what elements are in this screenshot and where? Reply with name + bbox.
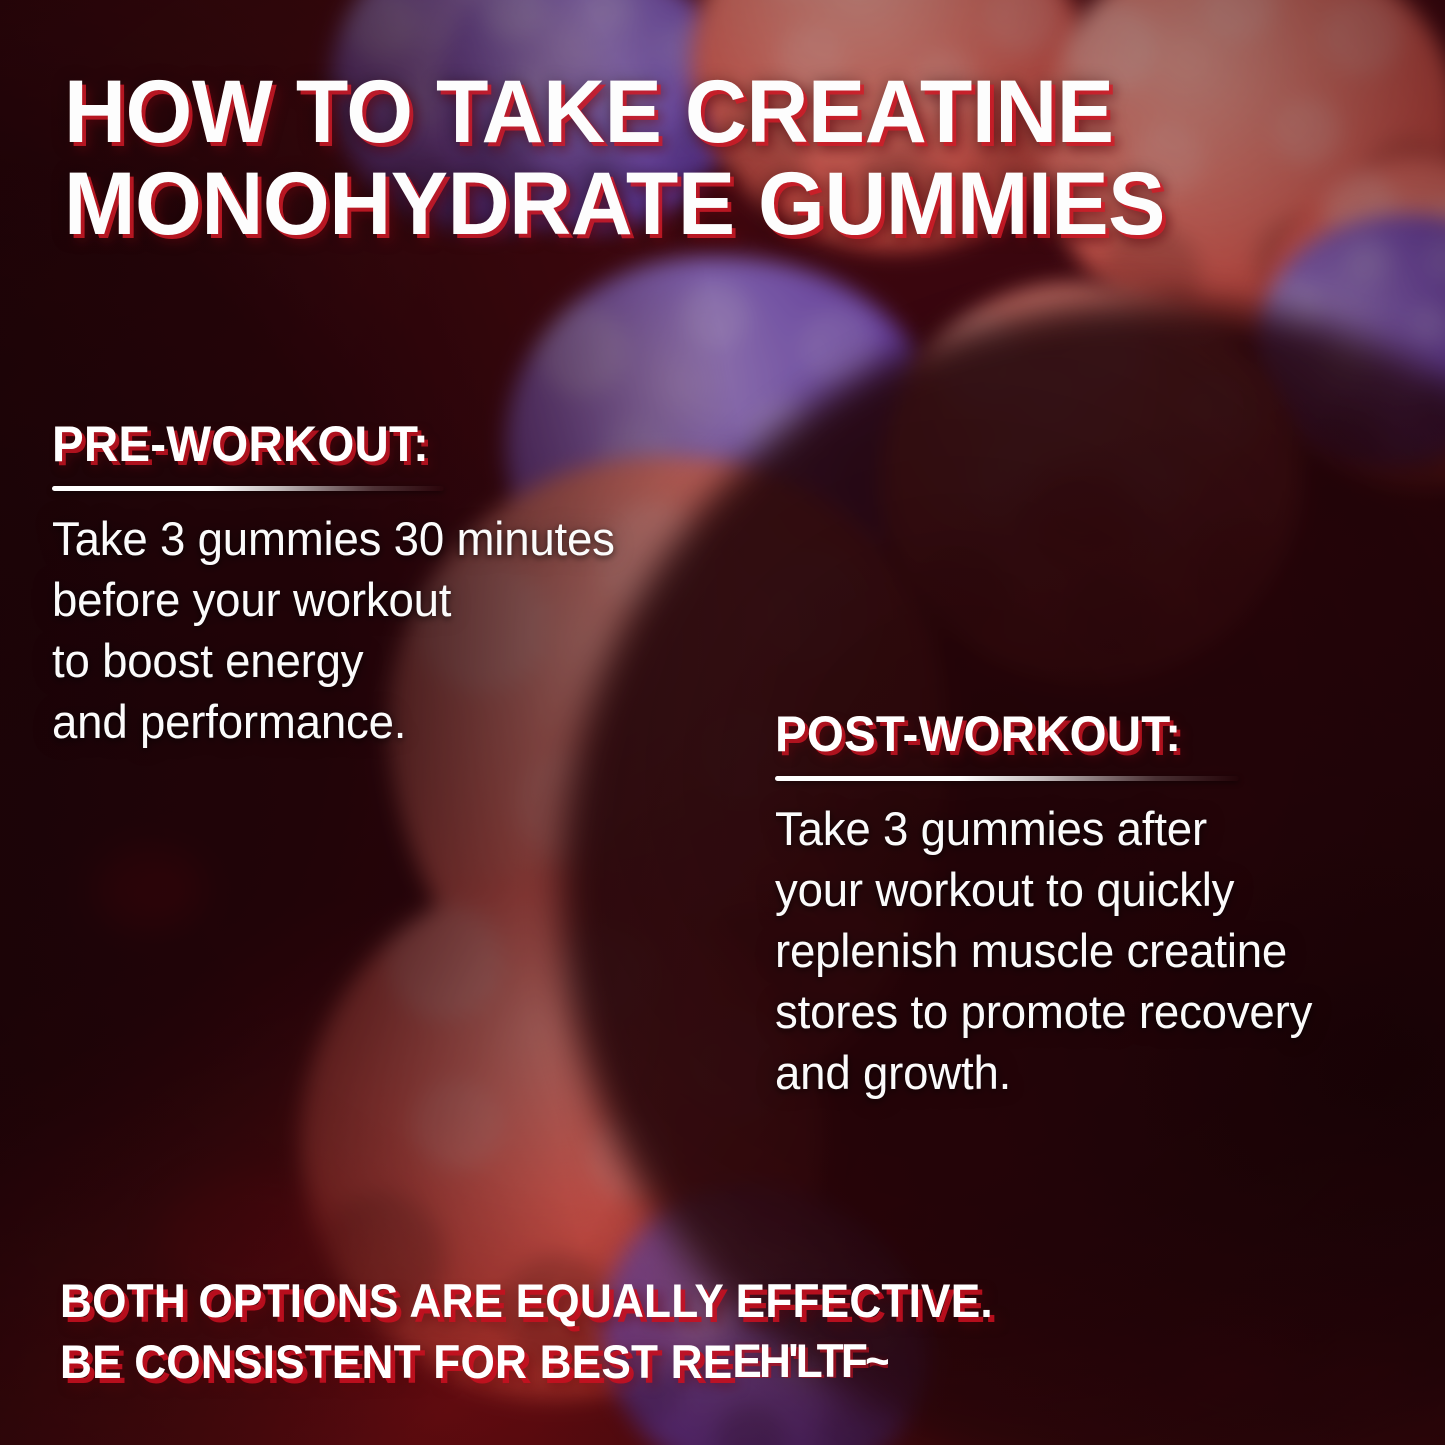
post-body-line-3: replenish muscle creatine (775, 920, 1415, 981)
footer-line-2-glitch-artifact: EH'LTF~ (732, 1330, 888, 1391)
footer-line-2-prefix: BE CONSISTENT FOR BEST RE (60, 1335, 732, 1388)
post-body-line-4: stores to promote recovery (775, 981, 1415, 1042)
footer-line-1: BOTH OPTIONS ARE EQUALLY EFFECTIVE. (60, 1270, 1301, 1331)
title-line-2: MONOHYDRATE GUMMIES (64, 158, 1290, 250)
pre-body-line-2: before your workout (52, 569, 789, 630)
pre-workout-body: Take 3 gummies 30 minutes before your wo… (52, 508, 789, 752)
pre-body-line-3: to boost energy (52, 630, 789, 691)
infographic-poster: HOW TO TAKE CREATINE MONOHYDRATE GUMMIES… (0, 0, 1445, 1445)
pre-workout-underline (52, 486, 444, 491)
post-workout-heading: POST-WORKOUT: (775, 705, 1402, 763)
post-body-line-5: and growth. (775, 1042, 1415, 1103)
post-body-line-1: Take 3 gummies after (775, 798, 1415, 859)
pre-workout-heading: PRE-WORKOUT: (52, 415, 774, 473)
pre-body-line-1: Take 3 gummies 30 minutes (52, 508, 789, 569)
pre-workout-block: PRE-WORKOUT: Take 3 gummies 30 minutes b… (52, 415, 812, 752)
pre-body-line-4: and performance. (52, 691, 789, 752)
post-workout-body: Take 3 gummies after your workout to qui… (775, 798, 1415, 1103)
footer-line-2: BE CONSISTENT FOR BEST REEH'LTF~ (60, 1331, 1301, 1392)
footer-callout: BOTH OPTIONS ARE EQUALLY EFFECTIVE. BE C… (60, 1270, 1301, 1392)
page-title: HOW TO TAKE CREATINE MONOHYDRATE GUMMIES (64, 66, 1290, 249)
post-body-line-2: your workout to quickly (775, 859, 1415, 920)
title-line-1: HOW TO TAKE CREATINE (64, 66, 1290, 158)
post-workout-underline (775, 776, 1239, 781)
poster-content: HOW TO TAKE CREATINE MONOHYDRATE GUMMIES… (0, 0, 1445, 1445)
post-workout-block: POST-WORKOUT: Take 3 gummies after your … (775, 705, 1435, 1103)
